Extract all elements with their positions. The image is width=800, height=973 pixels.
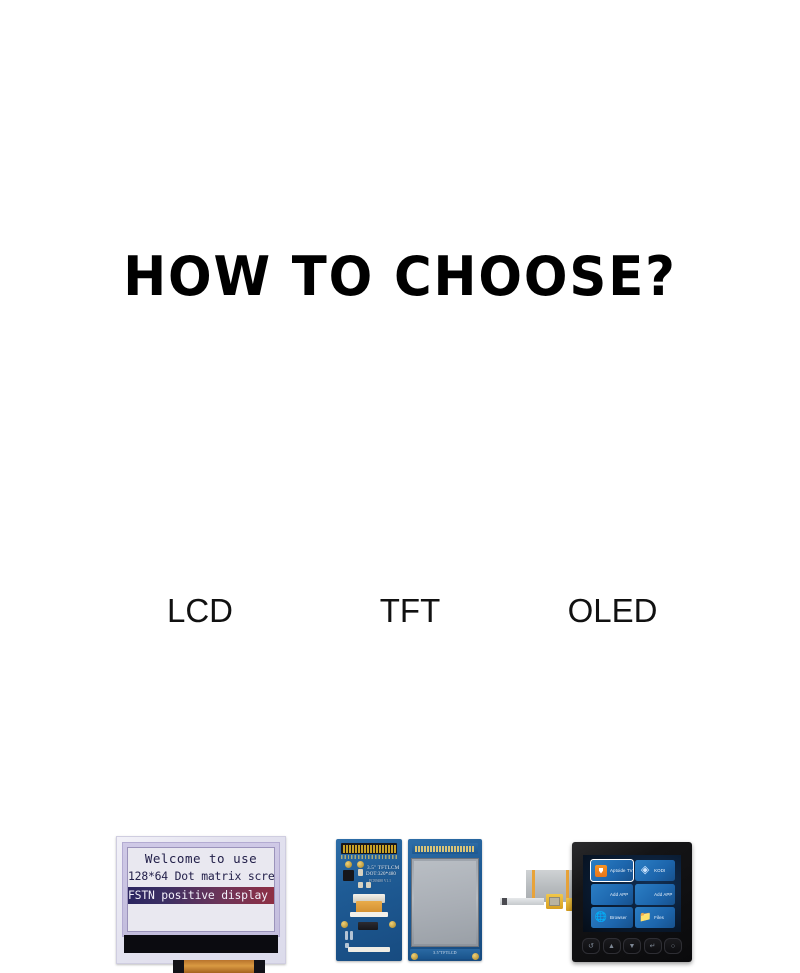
pin-pad-row	[341, 855, 397, 859]
add-app-icon	[639, 888, 651, 900]
mount-hole-icon	[389, 921, 396, 928]
add-app-icon	[595, 888, 607, 900]
back-button[interactable]: ↺	[582, 938, 600, 954]
solder-pad-icon	[345, 931, 348, 940]
oled-tile-label: KODI	[654, 868, 665, 873]
tft-back-board: 3.5" TFTLCM DOT:320*480 PCB9488 V1.1	[336, 839, 402, 961]
capacitor-icon	[358, 869, 363, 876]
product-lcd-module: Welcome to use 128*64 Dot matrix screen …	[116, 836, 286, 964]
oled-tile-label: Add APP	[654, 892, 672, 897]
lcd-screen-inverted-bar: FSTN positive display effect	[128, 887, 274, 904]
pin-header-icon	[341, 843, 397, 854]
tft-flex-tab	[350, 912, 388, 917]
enter-button[interactable]: ↵	[644, 938, 662, 954]
tft-front-footer: 3.5"TFTLCD	[410, 949, 480, 959]
caption-row: LCD TFT OLED	[0, 592, 800, 637]
oled-tile-aptoide-tv[interactable]: Aptoide TV	[591, 860, 633, 881]
oled-button-row: ↺ ▲ ▼ ↵ ○	[582, 937, 682, 955]
tft-silkscreen-resolution: DOT:320*480	[366, 872, 396, 877]
tft-silkscreen-revision: PCB9488 V1.1	[369, 879, 391, 883]
lcd-screen: Welcome to use 128*64 Dot matrix screen …	[127, 847, 275, 932]
driver-ic-icon	[343, 870, 354, 881]
tft-screen-bezel	[411, 858, 479, 947]
oled-tile-grid: Aptoide TV ◈ KODI Add APP	[591, 860, 675, 928]
globe-icon: 🌐	[595, 912, 607, 924]
oled-tile-browser[interactable]: 🌐 Browser	[591, 907, 633, 928]
power-button[interactable]: ○	[664, 938, 682, 954]
aptoide-icon	[595, 865, 607, 877]
oled-tile-add-app-2[interactable]: Add APP	[635, 884, 675, 905]
tft-silkscreen-model: 3.5" TFTLCM	[367, 865, 399, 871]
oled-tile-label: Add APP	[610, 892, 628, 897]
caption-oled: OLED	[520, 592, 705, 630]
product-oled-module: Aptoide TV ◈ KODI Add APP	[500, 842, 692, 962]
gold-pad-icon	[345, 861, 352, 868]
tft-screen-glass	[414, 861, 476, 944]
mount-hole-icon	[472, 953, 479, 960]
poster-canvas: HOW TO CHOOSE? Welcome to use 128*64 Dot…	[0, 0, 800, 800]
bottom-connector-icon	[348, 947, 390, 952]
capacitor-icon	[366, 882, 371, 888]
down-button[interactable]: ▼	[623, 938, 641, 954]
caption-tft: TFT	[330, 592, 490, 630]
lcd-screen-line-1: Welcome to use	[128, 852, 274, 867]
oled-screen: Aptoide TV ◈ KODI Add APP	[583, 855, 681, 932]
page-title: HOW TO CHOOSE?	[20, 245, 780, 308]
lcd-flex-cable	[173, 960, 265, 973]
lcd-housing: Welcome to use 128*64 Dot matrix screen …	[116, 836, 286, 964]
oled-housing: Aptoide TV ◈ KODI Add APP	[572, 842, 692, 962]
oled-tile-label: Aptoide TV	[610, 868, 633, 873]
caption-lcd: LCD	[120, 592, 280, 630]
tft-front-label: 3.5"TFTLCD	[410, 951, 480, 955]
mount-hole-icon	[341, 921, 348, 928]
oled-tile-kodi[interactable]: ◈ KODI	[635, 860, 675, 881]
product-row: Welcome to use 128*64 Dot matrix screen …	[0, 415, 800, 565]
oled-tile-label: Browser	[610, 915, 627, 920]
mount-hole-icon	[411, 953, 418, 960]
front-pin-header-icon	[412, 843, 478, 854]
oled-ribbon-tail	[500, 898, 544, 905]
tft-front-board: 3.5"TFTLCD	[408, 839, 482, 961]
up-button[interactable]: ▲	[603, 938, 621, 954]
files-icon: 📁	[639, 912, 651, 924]
lcd-bezel: Welcome to use 128*64 Dot matrix screen …	[122, 842, 280, 937]
sd-card-slot-icon	[358, 922, 378, 930]
oled-tile-files[interactable]: 📁 Files	[635, 907, 675, 928]
kodi-icon: ◈	[639, 865, 651, 877]
lcd-screen-line-2: 128*64 Dot matrix screen	[128, 870, 274, 883]
gold-pad-icon	[357, 861, 364, 868]
lcd-driver-band	[124, 935, 278, 953]
solder-pad-icon	[350, 931, 353, 940]
oled-gold-connector-icon	[546, 894, 563, 909]
oled-tile-label: Files	[654, 915, 664, 920]
oled-tile-add-app-1[interactable]: Add APP	[591, 884, 633, 905]
capacitor-icon	[358, 882, 363, 888]
product-tft-module: 3.5" TFTLCM DOT:320*480 PCB9488 V1.1	[336, 839, 482, 961]
